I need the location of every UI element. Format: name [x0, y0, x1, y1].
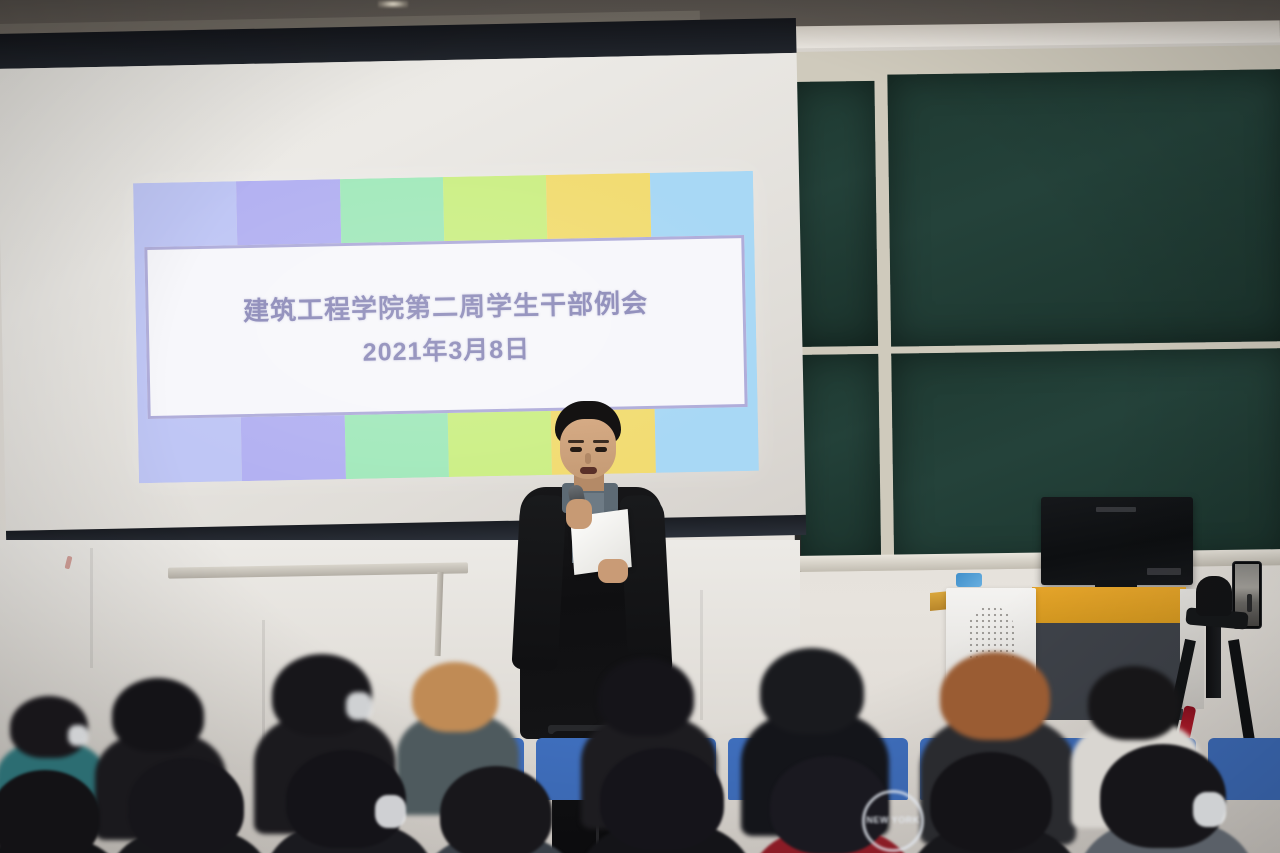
- audience-member-head: [1088, 666, 1180, 740]
- slide-title: 建筑工程学院第二周学生干部例会: [243, 283, 649, 328]
- face-mask: [346, 692, 372, 720]
- podium-monitor: [1041, 497, 1193, 585]
- presenter-eye-left: [570, 447, 582, 452]
- blackboard-pane-left-lower: [796, 354, 881, 570]
- audience-member-head: [940, 652, 1050, 740]
- jacket-graphic-text: NEW YORK: [862, 790, 924, 852]
- audience-member-head: [930, 752, 1052, 852]
- blackboard-pane-left-upper: [792, 81, 878, 347]
- face-mask: [68, 725, 88, 746]
- audience-member-head: [760, 648, 864, 734]
- slide-title-card: 建筑工程学院第二周学生干部例会 2021年3月8日: [144, 235, 747, 419]
- monitor-logo: [1096, 507, 1136, 512]
- ceiling-light: [378, 0, 408, 8]
- audience-member-head: [128, 758, 244, 853]
- audience: [0, 600, 1280, 853]
- blackboard: [792, 45, 1280, 572]
- blackboard-pane-right-upper: [887, 69, 1280, 347]
- face-mask: [1193, 792, 1226, 827]
- presenter-eyebrow-left: [568, 440, 584, 443]
- presenter-mouth: [580, 467, 597, 474]
- audience-member-head: [440, 766, 552, 853]
- presenter-hand-holding-paper: [598, 559, 628, 583]
- presenter-hand-holding-mic: [566, 499, 592, 529]
- presenter-eye-right: [595, 447, 607, 452]
- face-mask: [375, 795, 406, 828]
- classroom-photo-scene: 建筑工程学院第二周学生干部例会 2021年3月8日: [0, 0, 1280, 853]
- audience-member-head: [112, 678, 204, 752]
- slide-date: 2021年3月8日: [362, 329, 530, 368]
- audience-member-head: [412, 662, 498, 732]
- presenter-eyebrow-right: [593, 440, 609, 443]
- audience-member-head: [600, 748, 724, 850]
- podium-sticker: [956, 573, 982, 587]
- audience-member-head: [598, 658, 694, 736]
- presenter-nose: [585, 453, 591, 464]
- monitor-badge: [1147, 568, 1181, 575]
